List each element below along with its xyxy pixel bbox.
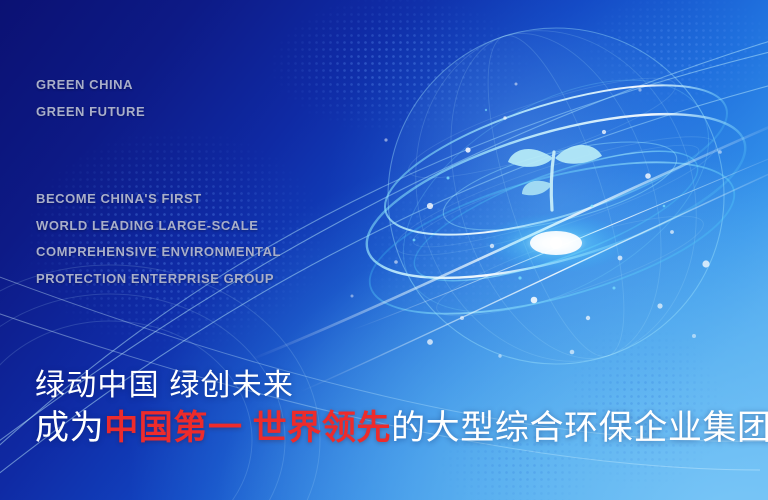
- tagline-line-become-first: BECOME CHINA'S FIRST: [36, 186, 281, 213]
- headline-prefix: 成为: [35, 409, 104, 447]
- headline-suffix: 的大型综合环保企业集团: [391, 409, 768, 447]
- tagline-block-primary: GREEN CHINA GREEN FUTURE: [36, 72, 145, 125]
- headline-line-2: 成为中国第一 世界领先的大型综合环保企业集团: [35, 406, 768, 450]
- tagline-block-secondary: BECOME CHINA'S FIRST WORLD LEADING LARGE…: [36, 186, 281, 292]
- wireframe-globe: [0, 0, 768, 500]
- halftone-world-map-pattern: [28, 120, 358, 370]
- halftone-world-map-pattern: [560, 0, 768, 122]
- sprout-seedling-icon: [0, 0, 768, 500]
- tagline-line-green-china: GREEN CHINA: [36, 72, 145, 99]
- headline: 绿动中国 绿创未来 成为中国第一 世界领先的大型综合环保企业集团: [35, 366, 768, 450]
- headline-line-1: 绿动中国 绿创未来: [35, 366, 768, 406]
- headline-highlight: 中国第一 世界领先: [104, 409, 391, 447]
- tagline-line-protection-group: PROTECTION ENTERPRISE GROUP: [36, 266, 281, 293]
- halftone-world-map-pattern: [572, 330, 742, 500]
- tagline-line-comprehensive: COMPREHENSIVE ENVIRONMENTAL: [36, 239, 281, 266]
- halftone-world-map-pattern: [250, 0, 550, 140]
- hero-banner: GREEN CHINA GREEN FUTURE BECOME CHINA'S …: [0, 0, 768, 500]
- halftone-world-map-pattern: [330, 150, 590, 350]
- background-light-arcs: [0, 0, 768, 500]
- tagline-line-world-leading: WORLD LEADING LARGE-SCALE: [36, 213, 281, 240]
- halftone-world-map-pattern: [440, 420, 620, 500]
- tagline-line-green-future: GREEN FUTURE: [36, 99, 145, 126]
